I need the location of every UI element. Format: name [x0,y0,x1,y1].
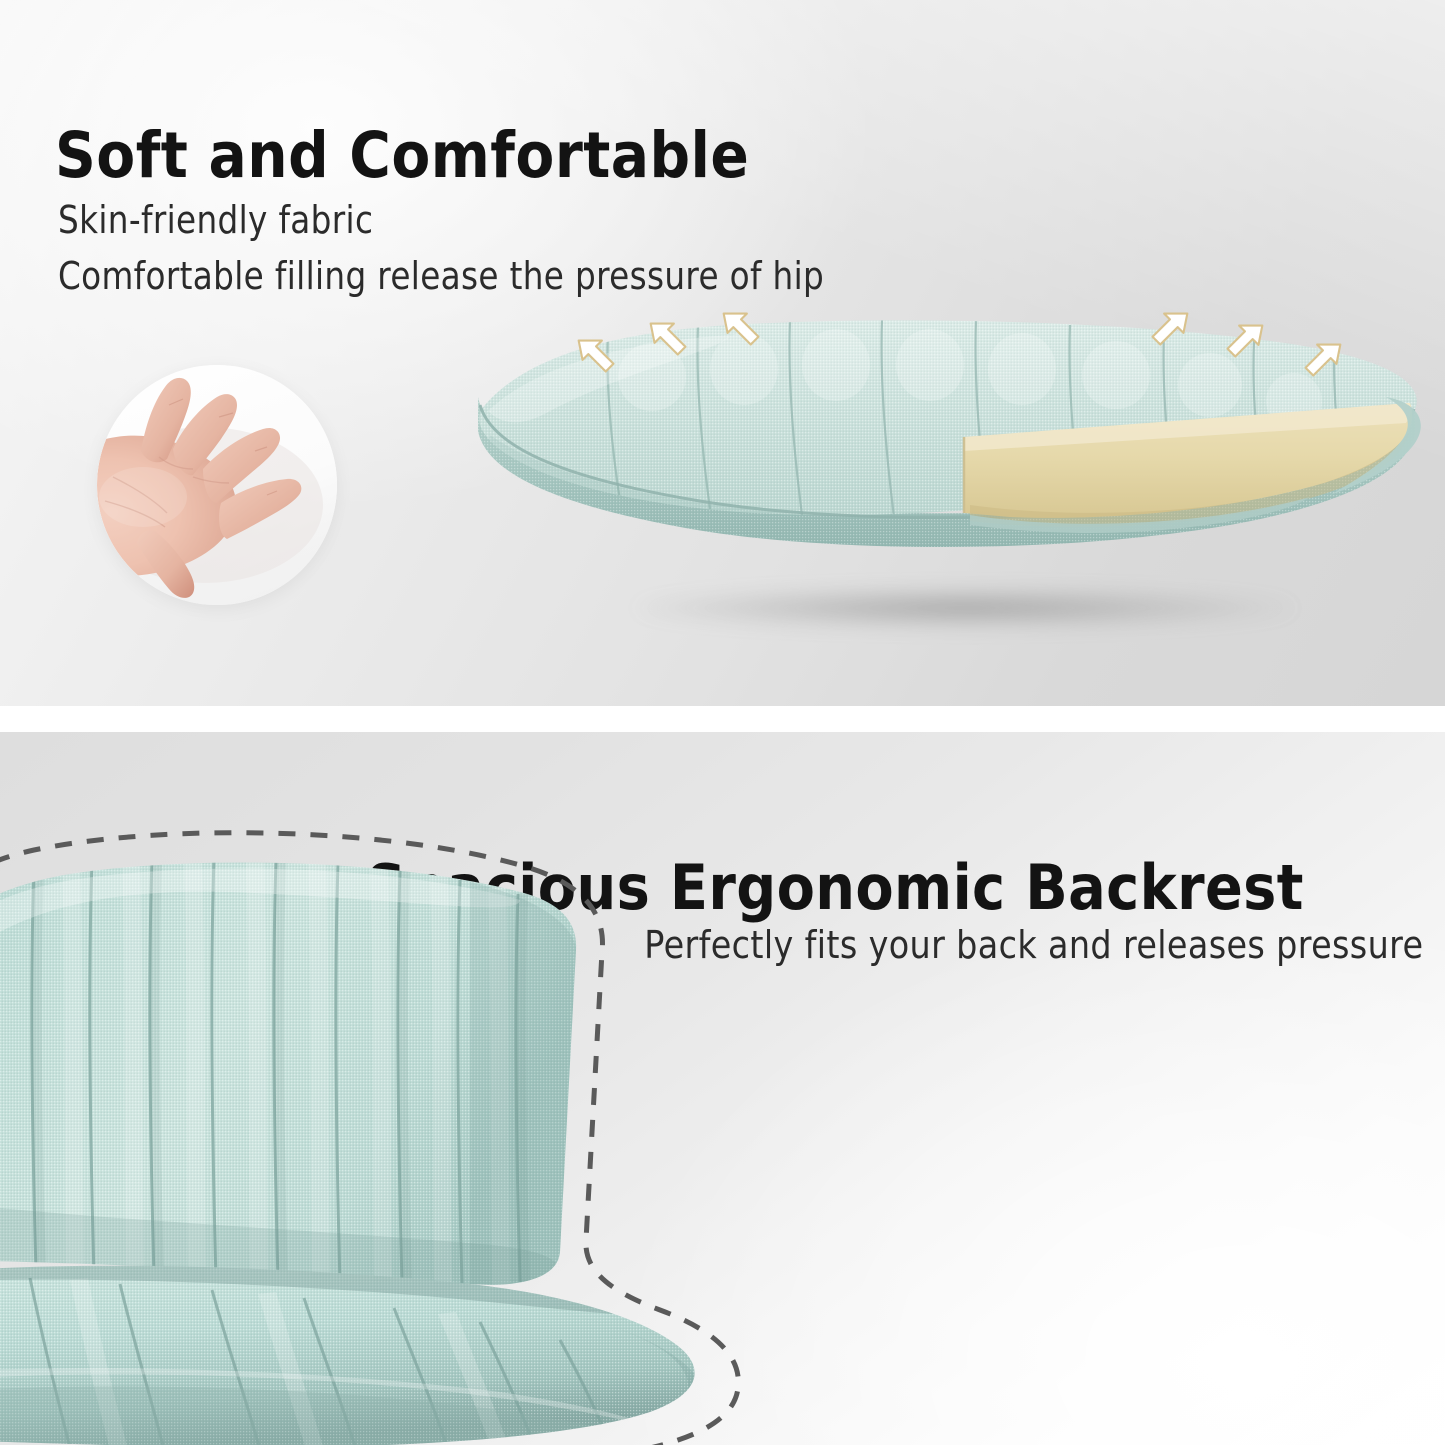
cushion-illustration [430,285,1440,665]
panel-1-subtitle-1: Skin-friendly fabric [58,201,373,239]
pressure-arrow-left-1 [569,329,627,387]
pressure-arrow-right-1 [1139,302,1197,360]
pressure-arrow-left-2 [641,312,699,370]
product-feature-page: Soft and Comfortable Skin-friendly fabri… [0,0,1445,1445]
panel-1-heading: Soft and Comfortable [55,124,749,187]
chair-backrest [0,732,1100,1445]
pressure-arrow-right-3 [1292,333,1350,391]
panel-divider [0,706,1445,732]
panel-soft-comfortable: Soft and Comfortable Skin-friendly fabri… [0,0,1445,706]
pressure-arrow-left-3 [714,302,772,360]
chair-illustration [0,732,1100,1445]
hand-pressing-foam-inset [97,365,337,605]
pressure-arrow-right-2 [1214,314,1272,372]
hand-icon [97,365,337,605]
